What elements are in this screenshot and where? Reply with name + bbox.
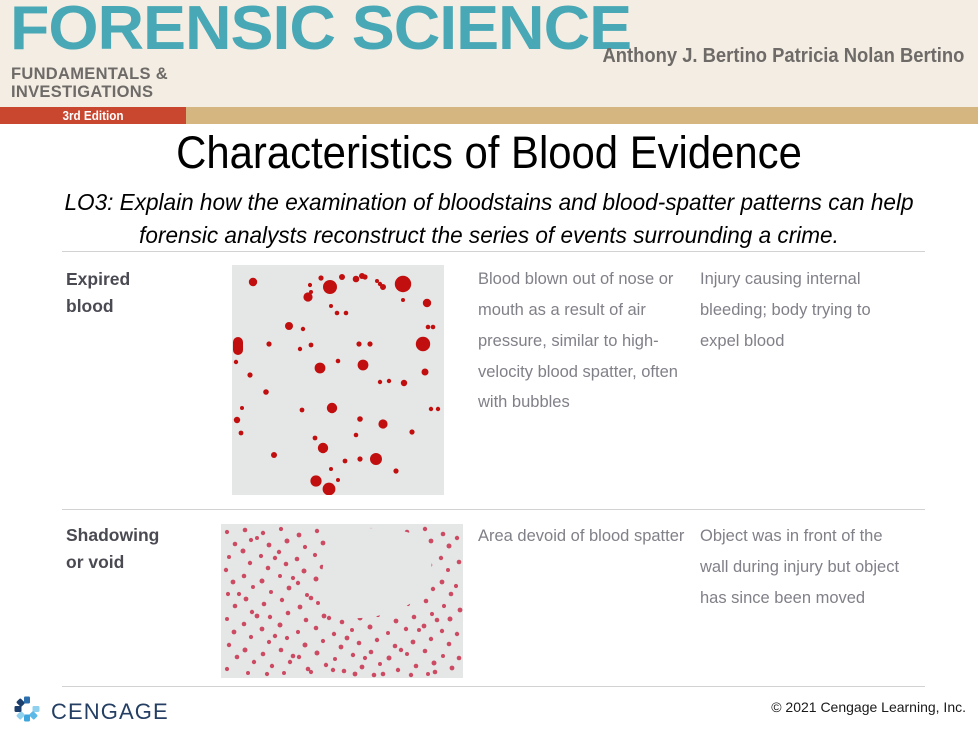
copyright-notice: © 2021 Cengage Learning, Inc.	[771, 699, 966, 715]
table-cell-cause: Object was in front of the wall during i…	[700, 521, 915, 614]
table-rule-bottom	[62, 686, 925, 687]
edition-accent-bar	[186, 107, 978, 124]
edition-strip: 3rd Edition	[0, 107, 978, 124]
table-cell-description: Area devoid of blood spatter	[478, 521, 690, 552]
edition-label: 3rd Edition	[9, 107, 176, 124]
expired-blood-image	[232, 265, 444, 495]
shadowing-void-spatter-svg	[221, 524, 463, 678]
expired-blood-spatter-svg	[232, 265, 444, 495]
table-cell-cause: Injury causing internal bleeding; body t…	[700, 264, 912, 357]
table-rule-top	[62, 251, 925, 252]
table-cell-description: Blood blown out of nose or mouth as a re…	[478, 264, 690, 418]
shadowing-void-image	[221, 524, 463, 678]
header-band: FORENSIC SCIENCE FUNDAMENTALS & INVESTIG…	[0, 0, 978, 107]
table-row-label: Shadowing or void	[66, 522, 159, 576]
table-row-label: Expired blood	[66, 266, 130, 320]
author-names: Anthony J. Bertino Patricia Nolan Bertin…	[602, 42, 964, 71]
brand-title: FORENSIC SCIENCE	[10, 0, 631, 61]
page-title: Characteristics of Blood Evidence	[34, 128, 944, 178]
cengage-mark-svg	[12, 694, 42, 724]
table-rule-middle	[62, 509, 925, 510]
cengage-mark-icon	[12, 694, 42, 729]
cengage-wordmark: CENGAGE	[51, 699, 169, 725]
learning-objective: LO3: Explain how the examination of bloo…	[43, 186, 936, 253]
brand-subtitle: FUNDAMENTALS & INVESTIGATIONS	[11, 66, 168, 102]
edition-badge: 3rd Edition	[0, 107, 186, 124]
cengage-logo: CENGAGE	[12, 694, 169, 729]
